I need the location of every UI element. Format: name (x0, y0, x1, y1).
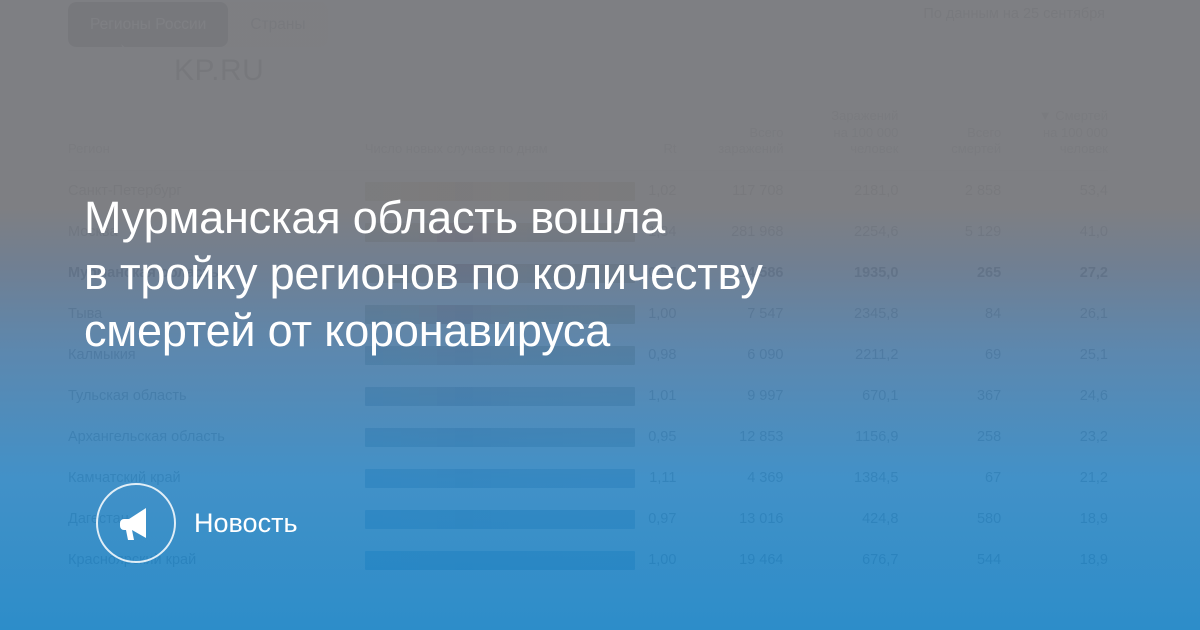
page-title: Мурманская область вошла в тройку регион… (84, 190, 1084, 359)
news-badge-label: Новость (194, 508, 298, 539)
news-badge: Новость (96, 483, 298, 563)
megaphone-icon (96, 483, 176, 563)
headline-line-2: в тройку регионов по количеству (84, 246, 1084, 302)
promo-card: Регионы России Страны По данным на 25 се… (0, 0, 1200, 630)
headline-line-3: смертей от коронавируса (84, 303, 1084, 359)
promo-overlay: Мурманская область вошла в тройку регион… (0, 0, 1200, 630)
headline-line-1: Мурманская область вошла (84, 190, 1084, 246)
